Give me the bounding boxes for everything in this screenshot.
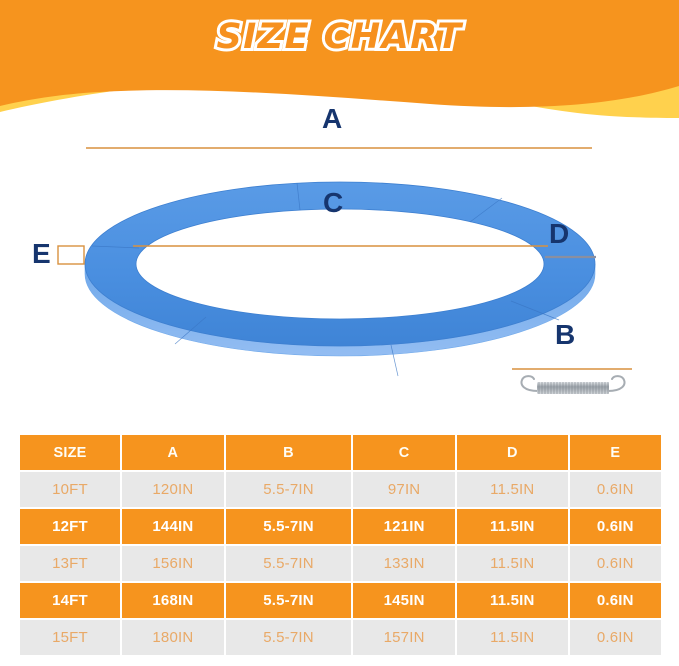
dimension-label-a: A (322, 105, 342, 133)
cell-size: 15FT (20, 620, 120, 655)
dimension-label-b: B (555, 321, 575, 349)
table-row: 13FT 156IN 5.5-7IN 133IN 11.5IN 0.6IN (20, 546, 661, 581)
dimension-label-d: D (549, 220, 569, 248)
table-row: 14FT 168IN 5.5-7IN 145IN 11.5IN 0.6IN (20, 583, 661, 618)
measure-bracket-e (58, 246, 84, 264)
cell-e: 0.6IN (570, 546, 661, 581)
column-header-d: D (457, 435, 568, 470)
spring-hook-right (608, 376, 624, 391)
cell-d: 11.5IN (457, 583, 568, 618)
cell-d: 11.5IN (457, 546, 568, 581)
size-chart-table-container: SIZE A B C D E 10FT 120IN 5.5-7IN 97IN 1… (18, 433, 663, 657)
cell-b: 5.5-7IN (226, 620, 351, 655)
cell-b: 5.5-7IN (226, 472, 351, 507)
trampoline-spring (522, 376, 625, 394)
cell-a: 168IN (122, 583, 224, 618)
cell-b: 5.5-7IN (226, 509, 351, 544)
cell-d: 11.5IN (457, 472, 568, 507)
column-header-b: B (226, 435, 351, 470)
cell-size: 14FT (20, 583, 120, 618)
dimension-label-e: E (32, 240, 51, 268)
cell-a: 180IN (122, 620, 224, 655)
table-row: 10FT 120IN 5.5-7IN 97IN 11.5IN 0.6IN (20, 472, 661, 507)
column-header-a: A (122, 435, 224, 470)
trampoline-diagram: A B C D E (0, 96, 679, 426)
spring-hook-left (522, 376, 538, 391)
trampoline-illustration (0, 96, 679, 426)
cell-e: 0.6IN (570, 472, 661, 507)
cell-c: 145IN (353, 583, 455, 618)
cell-b: 5.5-7IN (226, 583, 351, 618)
cell-d: 11.5IN (457, 509, 568, 544)
cell-a: 144IN (122, 509, 224, 544)
cell-size: 13FT (20, 546, 120, 581)
page-title: SIZE CHART (0, 17, 679, 57)
cell-c: 157IN (353, 620, 455, 655)
table-row: 15FT 180IN 5.5-7IN 157IN 11.5IN 0.6IN (20, 620, 661, 655)
cell-c: 133IN (353, 546, 455, 581)
cell-a: 156IN (122, 546, 224, 581)
cell-d: 11.5IN (457, 620, 568, 655)
cell-size: 10FT (20, 472, 120, 507)
cell-size: 12FT (20, 509, 120, 544)
size-chart-table: SIZE A B C D E 10FT 120IN 5.5-7IN 97IN 1… (18, 433, 663, 657)
table-header-row: SIZE A B C D E (20, 435, 661, 470)
cell-c: 97IN (353, 472, 455, 507)
cell-e: 0.6IN (570, 509, 661, 544)
table-row: 12FT 144IN 5.5-7IN 121IN 11.5IN 0.6IN (20, 509, 661, 544)
column-header-size: SIZE (20, 435, 120, 470)
cell-e: 0.6IN (570, 583, 661, 618)
cell-e: 0.6IN (570, 620, 661, 655)
column-header-e: E (570, 435, 661, 470)
cell-b: 5.5-7IN (226, 546, 351, 581)
column-header-c: C (353, 435, 455, 470)
cell-c: 121IN (353, 509, 455, 544)
cell-a: 120IN (122, 472, 224, 507)
dimension-label-c: C (323, 189, 343, 217)
